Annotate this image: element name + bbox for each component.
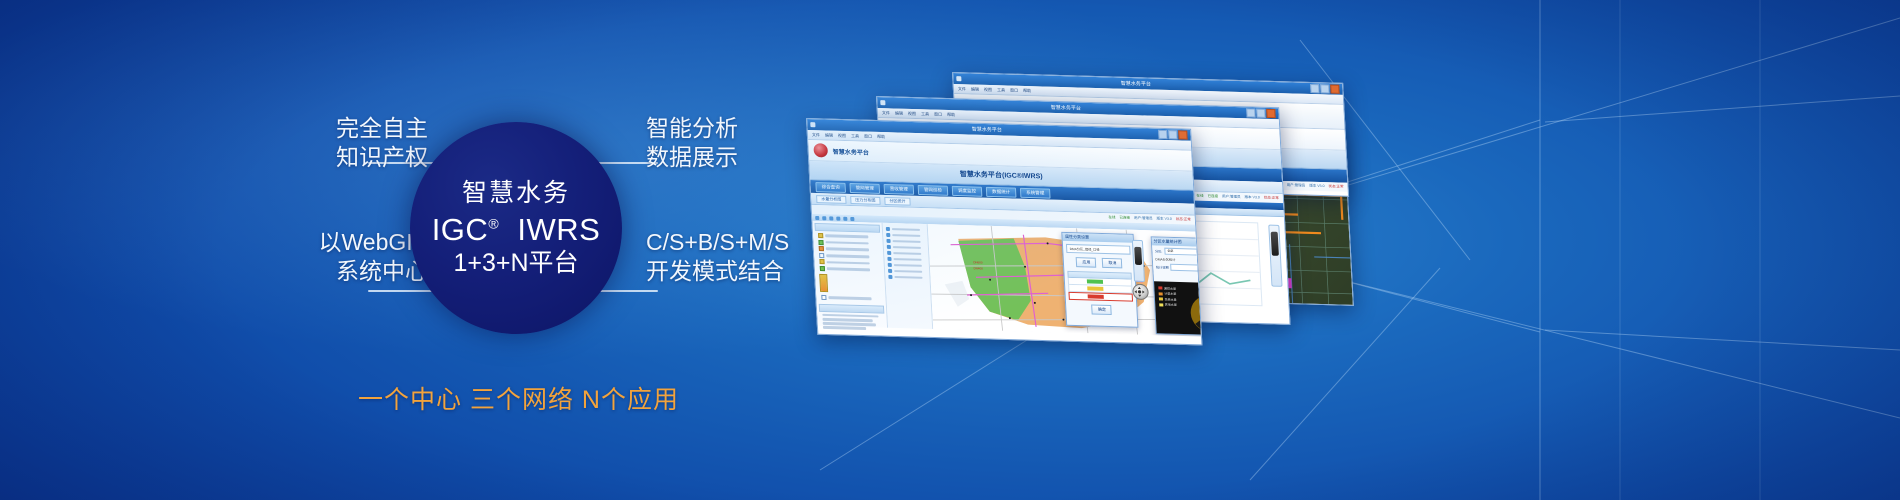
status-user: 用户:管理员 <box>1222 194 1241 200</box>
menu-item-help[interactable]: 帮助 <box>877 133 885 139</box>
menu-item-tools[interactable]: 工具 <box>851 133 859 139</box>
legend-item: 其他水量 <box>1159 302 1188 307</box>
status-state: 状态:正常 <box>1264 196 1279 201</box>
menu-item-file[interactable]: 文件 <box>958 86 966 92</box>
window-controls[interactable] <box>1158 130 1188 140</box>
product-suffix: IWRS <box>517 212 600 247</box>
layer-tree-item[interactable] <box>821 295 883 302</box>
menu-item-tools[interactable]: 工具 <box>997 87 1005 93</box>
region-select-label: 分区: <box>1155 248 1163 253</box>
status-state: 状态:正常 <box>1328 184 1343 189</box>
status-state: 状态:正常 <box>1176 217 1191 222</box>
subnav-item-2[interactable]: 分区统计 <box>884 196 910 205</box>
feature-line-2: 知识产权 <box>248 143 428 172</box>
menu-item-tools[interactable]: 工具 <box>921 111 929 117</box>
scrollbar-thumb[interactable] <box>1271 232 1279 256</box>
nav-item-1[interactable]: 管网管理 <box>849 183 880 194</box>
attribute-panel-header <box>819 304 885 314</box>
pan-icon[interactable] <box>815 215 819 219</box>
window-controls[interactable] <box>1246 108 1276 118</box>
menu-item-window[interactable]: 窗口 <box>934 111 942 117</box>
dialog-field-value: DMA分区_管径_口径 <box>1070 246 1100 252</box>
slider-thumb[interactable] <box>1134 247 1142 265</box>
measure-distance-icon[interactable] <box>850 216 854 220</box>
status-connected: 已连接 <box>1119 216 1130 221</box>
select-icon[interactable] <box>836 216 840 220</box>
classification-dialog[interactable]: 属性分类设置 DMA分区_管径_口径 应用 取消 <box>1062 232 1139 328</box>
pan-arrows-icon <box>1133 286 1146 298</box>
window-icon <box>880 100 885 105</box>
circle-line-1: 智慧水务 <box>462 179 570 207</box>
region-select[interactable]: 全部 <box>1164 248 1201 257</box>
gis-workspace[interactable]: DN600DN400 属性分类设置 DMA分区_管径_口径 <box>812 214 1201 337</box>
nav-item-3[interactable]: 管网巡检 <box>918 184 949 195</box>
circle-line-2: IGC® IWRS <box>432 213 601 248</box>
dialog-field[interactable]: DMA分区_管径_口径 <box>1066 244 1131 255</box>
feature-bottom-left: 以WebGIS 系统中心 <box>228 228 428 287</box>
status-version: 版本 V3.0 <box>1309 184 1324 189</box>
svg-text:DN600: DN600 <box>973 260 983 264</box>
map-canvas[interactable]: DN600DN400 属性分类设置 DMA分区_管径_口径 <box>928 224 1201 336</box>
panel-title: 分区水量统计图 <box>1153 238 1181 245</box>
svg-text:DN400: DN400 <box>973 266 983 270</box>
menu-item-edit[interactable]: 编辑 <box>895 110 903 116</box>
minimize-icon[interactable] <box>1158 130 1167 139</box>
status-connected: 已连接 <box>1207 194 1218 199</box>
platform-title: 智慧水务平台(IGC®IWRS) <box>960 169 1043 181</box>
status-online: 在线 <box>1196 194 1203 199</box>
panel-subtitle: DMA分区统计 <box>1155 256 1201 263</box>
close-icon[interactable] <box>1266 109 1275 118</box>
connector-bottom-left <box>368 290 434 292</box>
water-volume-pie-chart <box>1184 290 1201 336</box>
identify-icon[interactable] <box>843 216 847 220</box>
zoom-in-icon[interactable] <box>822 216 826 220</box>
feature-line-2: 系统中心 <box>228 257 428 286</box>
zoom-out-icon[interactable] <box>829 216 833 220</box>
date-label: 统计日期 <box>1156 264 1169 269</box>
date-input[interactable] <box>1170 264 1201 273</box>
feature-line-2: 开发模式结合 <box>646 257 866 286</box>
chart-scrollbar[interactable] <box>1268 225 1282 287</box>
maximize-icon[interactable] <box>1256 109 1265 118</box>
table-row[interactable] <box>1069 292 1134 302</box>
apply-button[interactable]: 应用 <box>1076 257 1097 268</box>
tool-item[interactable] <box>887 245 927 250</box>
feature-line-2: 数据展示 <box>646 143 846 172</box>
status-version: 版本 V3.0 <box>1245 195 1260 200</box>
menu-item-window[interactable]: 窗口 <box>864 133 872 139</box>
nav-item-6[interactable]: 系统管理 <box>1020 187 1051 198</box>
feature-line-1: 完全自主 <box>248 114 428 143</box>
cancel-button[interactable]: 取消 <box>1102 258 1123 269</box>
feature-bottom-right: C/S+B/S+M/S 开发模式结合 <box>646 228 866 287</box>
menu-item-help[interactable]: 帮助 <box>1023 87 1031 93</box>
feature-top-left: 完全自主 知识产权 <box>248 114 428 173</box>
subnav-item-0[interactable]: 水量分析图 <box>816 195 847 204</box>
menu-item-view[interactable]: 视图 <box>908 110 916 116</box>
dialog-title: 属性分类设置 <box>1065 234 1089 241</box>
window-icon <box>956 76 961 81</box>
close-icon[interactable] <box>1178 130 1187 139</box>
tool-item[interactable] <box>888 269 928 274</box>
hero-infographic: 完全自主 知识产权 以WebGIS 系统中心 智能分析 数据展示 C/S+B/S… <box>250 100 810 400</box>
status-online: 在线 <box>1108 215 1115 220</box>
map-pan-pad[interactable] <box>1132 284 1149 300</box>
subnav-item-1[interactable]: 压力分布图 <box>850 196 881 205</box>
water-statistics-panel[interactable]: 分区水量统计图 分区: 全部 DMA分区统计 统计日期 <box>1150 236 1201 336</box>
maximize-icon[interactable] <box>1320 84 1329 93</box>
menu-item-view[interactable]: 视图 <box>984 86 992 92</box>
tool-palette[interactable] <box>883 223 934 329</box>
minimize-icon[interactable] <box>1246 108 1255 117</box>
connector-bottom-right <box>598 290 658 292</box>
nav-item-0[interactable]: 综合查询 <box>815 182 846 193</box>
status-user: 用户:管理员 <box>1134 216 1153 222</box>
close-icon[interactable] <box>1330 85 1339 94</box>
menu-item-help[interactable]: 帮助 <box>947 111 955 117</box>
hero-tagline: 一个中心 三个网络 N个应用 <box>358 380 679 416</box>
nav-item-2[interactable]: 营收管理 <box>884 183 915 194</box>
tool-item[interactable] <box>888 263 928 268</box>
feature-line-1: C/S+B/S+M/S <box>646 228 866 257</box>
feature-line-1: 智能分析 <box>646 114 846 143</box>
nav-item-4[interactable]: 调度监控 <box>952 185 983 196</box>
maximize-icon[interactable] <box>1168 130 1177 139</box>
legend-item: 免费水量 <box>1158 297 1187 302</box>
status-version: 版本 V3.0 <box>1156 217 1171 222</box>
product-circle-badge: 智慧水务 IGC® IWRS 1+3+N平台 <box>410 122 622 334</box>
menu-item-file[interactable]: 文件 <box>882 110 890 116</box>
window-controls[interactable] <box>1310 84 1340 94</box>
nav-item-5[interactable]: 数据统计 <box>986 186 1017 197</box>
confirm-button[interactable]: 确定 <box>1092 304 1113 315</box>
status-user: 用户:管理员 <box>1287 183 1306 189</box>
tool-item[interactable] <box>887 257 927 262</box>
legend-item: 计量水量 <box>1158 291 1187 296</box>
attribute-row <box>823 326 885 330</box>
tool-item[interactable] <box>886 233 926 238</box>
feature-top-right: 智能分析 数据展示 <box>646 114 846 173</box>
map-zoom-slider[interactable] <box>1132 240 1145 282</box>
menu-item-edit[interactable]: 编辑 <box>971 86 979 92</box>
feature-line-1: 以WebGIS <box>228 228 428 257</box>
tool-item[interactable] <box>888 275 928 280</box>
tool-item[interactable] <box>886 227 926 232</box>
menu-item-window[interactable]: 窗口 <box>1010 87 1018 93</box>
tool-item[interactable] <box>886 239 926 244</box>
registered-icon: ® <box>488 215 499 231</box>
tool-item[interactable] <box>887 251 927 256</box>
circle-line-3: 1+3+N平台 <box>453 249 578 277</box>
minimize-icon[interactable] <box>1310 84 1319 93</box>
product-code: IGC <box>432 212 489 247</box>
legend-item: 漏损水量 <box>1158 286 1187 291</box>
banner-stage: 影像地图 <box>0 0 1900 500</box>
